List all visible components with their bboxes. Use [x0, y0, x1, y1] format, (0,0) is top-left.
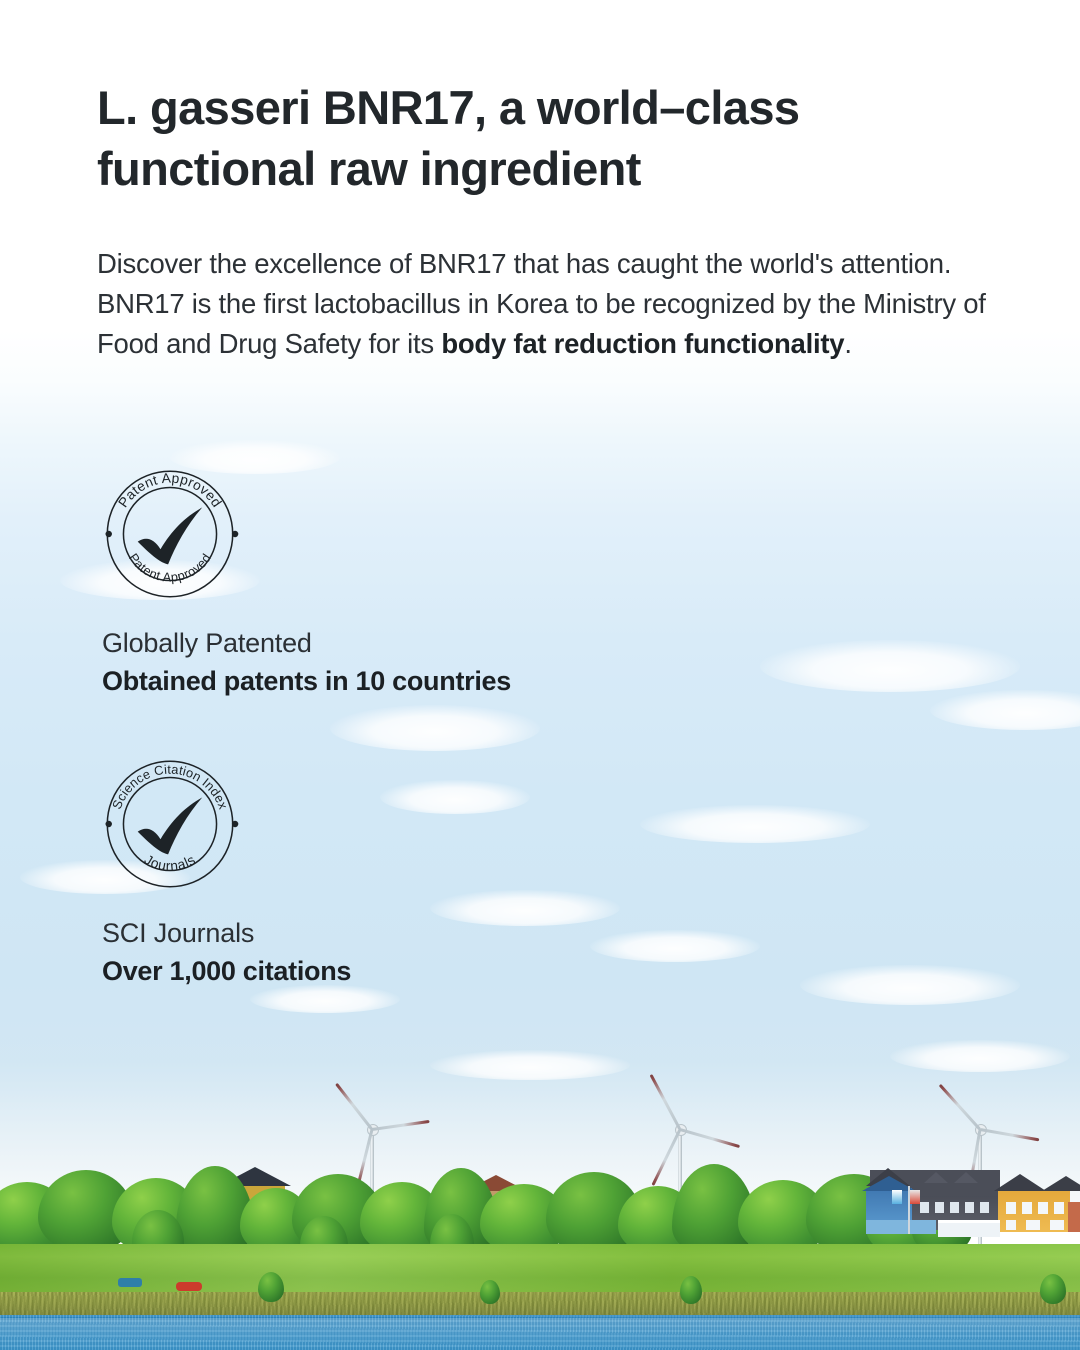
patent-approved-seal-icon: Patent Approved Patent Approved: [94, 458, 246, 610]
promo-page: L. gasseri BNR17, a world–class function…: [0, 0, 1080, 1350]
badge-sci-journals: Science Citation Index Journals SCI Jour…: [94, 748, 351, 991]
intro-text-emphasis: body fat reduction functionality: [441, 328, 844, 359]
badge-value: Over 1,000 citations: [102, 952, 351, 990]
seal-bottom-text: Journals: [142, 852, 198, 874]
checkmark-icon: [138, 507, 203, 564]
badge-globally-patented: Patent Approved Patent Approved Globally…: [94, 458, 511, 701]
badge-value: Obtained patents in 10 countries: [102, 662, 511, 700]
badge-label: Globally Patented: [102, 624, 511, 662]
badge-text-group: Globally Patented Obtained patents in 10…: [94, 624, 511, 701]
page-title: L. gasseri BNR17, a world–class function…: [97, 78, 977, 199]
seal-top-text: Patent Approved: [115, 470, 224, 510]
badge-label: SCI Journals: [102, 914, 351, 952]
badge-text-group: SCI Journals Over 1,000 citations: [94, 914, 351, 991]
intro-text-part2: .: [844, 328, 851, 359]
checkmark-icon: [138, 797, 203, 854]
svg-text:Journals: Journals: [142, 852, 198, 874]
intro-paragraph: Discover the excellence of BNR17 that ha…: [97, 244, 987, 364]
sci-journals-seal-icon: Science Citation Index Journals: [94, 748, 246, 900]
svg-text:Patent Approved: Patent Approved: [115, 470, 224, 510]
content-layer: L. gasseri BNR17, a world–class function…: [0, 0, 1080, 1350]
